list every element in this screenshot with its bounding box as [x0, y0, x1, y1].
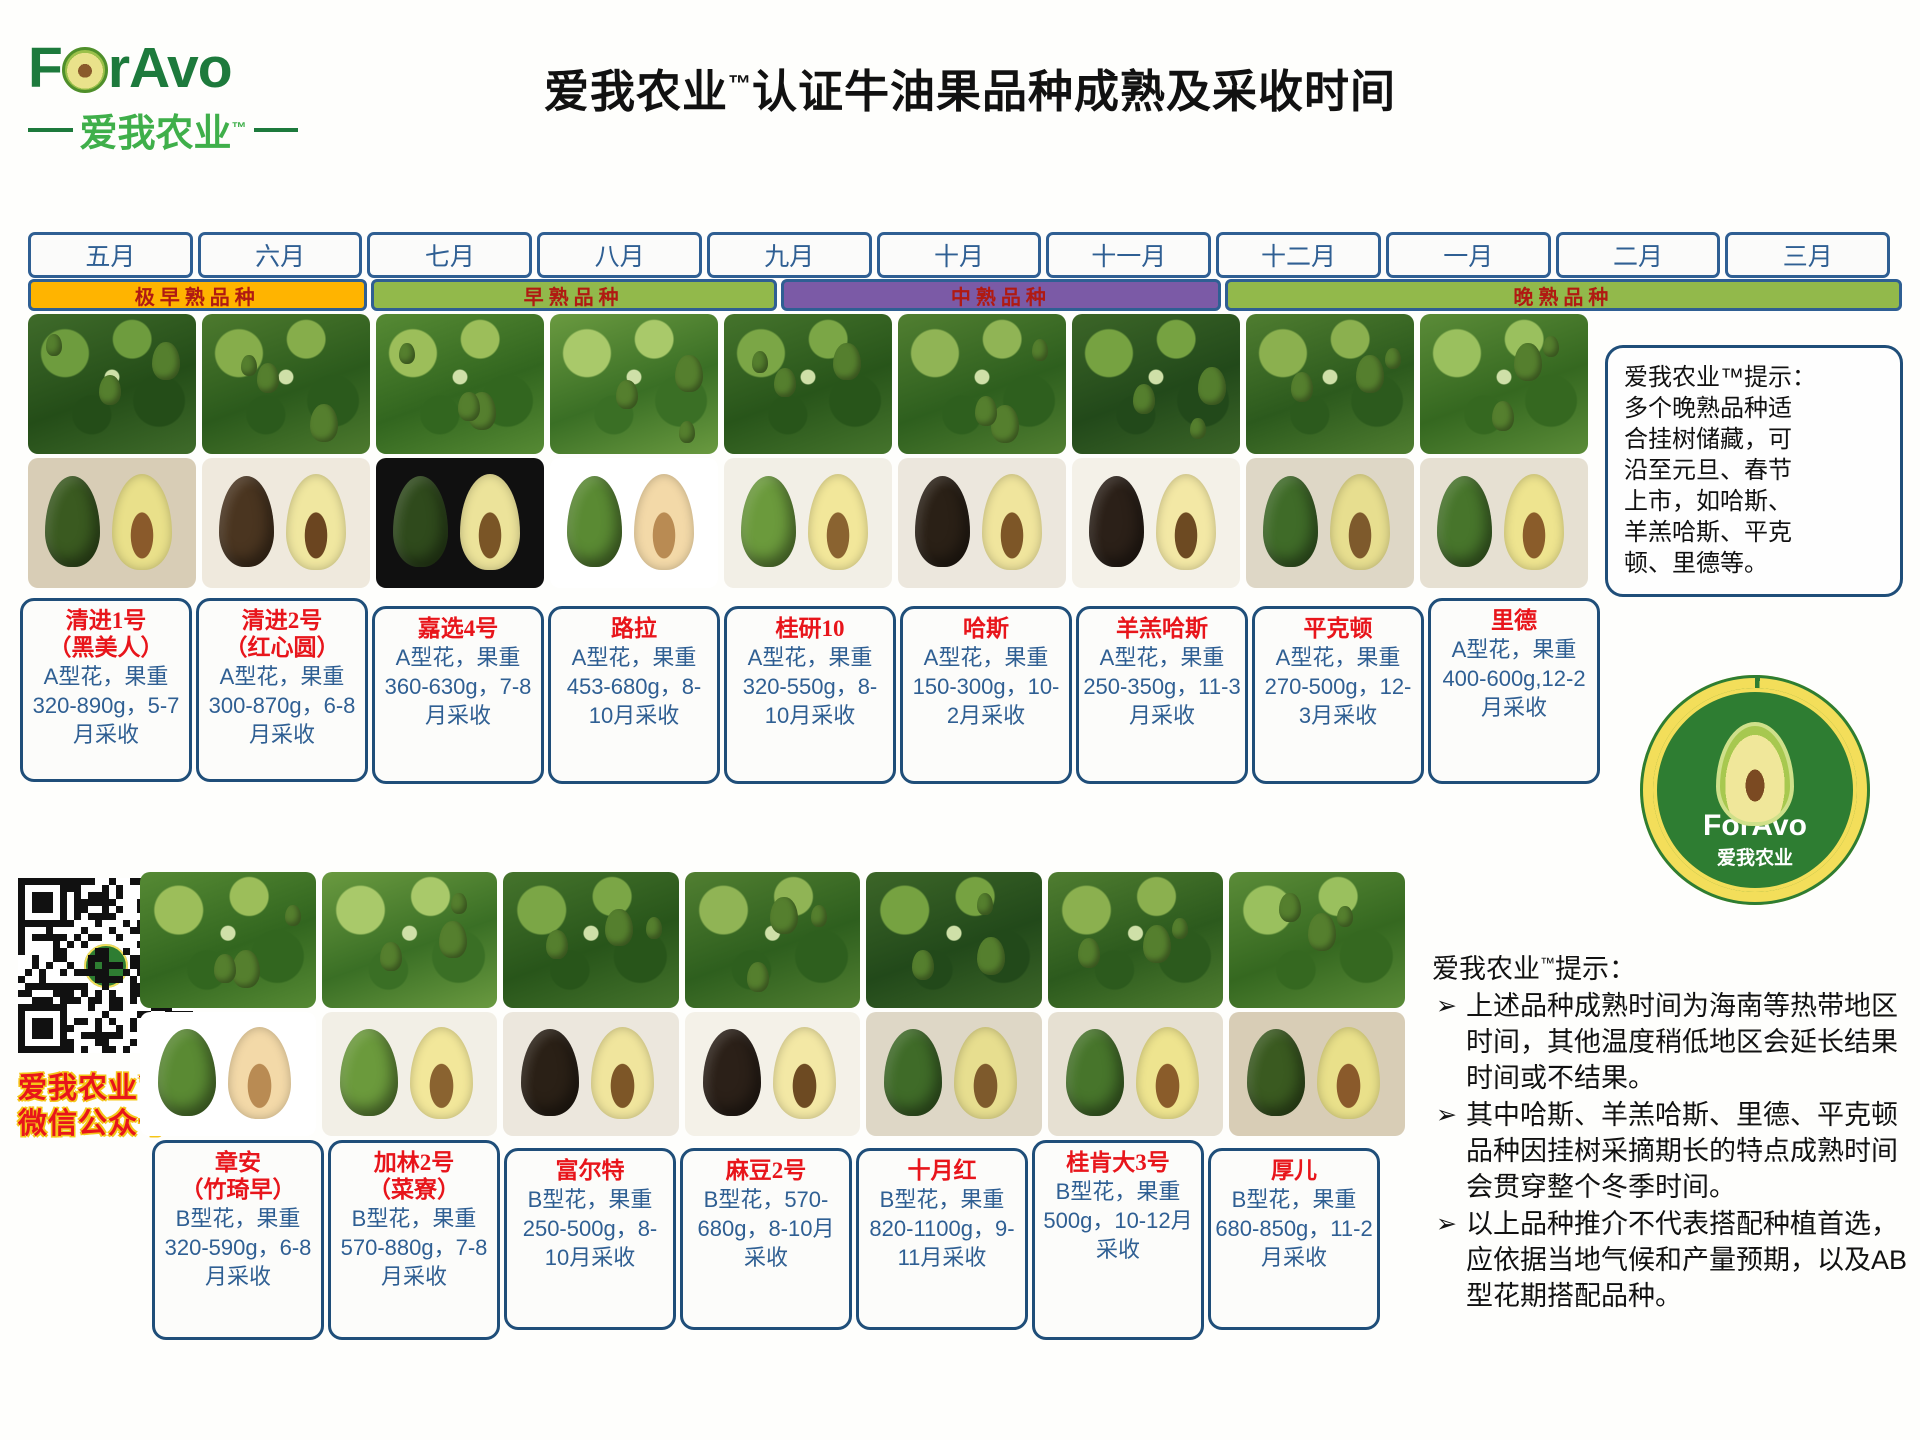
- note-item: ➢其中哈斯、羊羔哈斯、里德、平克顿品种因挂树采摘期长的特点成熟时间会贯穿整个冬季…: [1432, 1097, 1910, 1205]
- month-cell: 十月: [877, 232, 1042, 278]
- avocado-o-icon: [62, 47, 108, 93]
- variety-description: A型花，果重360-630g，7-8月采收: [379, 643, 537, 730]
- avocado-fruit-icon: [1514, 343, 1542, 381]
- note-text: 以上品种推介不代表搭配种植首选，应依据当地气候和产量预期，以及AB型花期搭配品种…: [1466, 1209, 1907, 1311]
- bullet-arrow-icon: ➢: [1436, 1206, 1457, 1242]
- variety-card: 桂肯大3号B型花，果重500g，10-12月采收: [1032, 1140, 1204, 1340]
- tree-photo: [898, 314, 1066, 454]
- maturity-category: 中熟品种: [781, 279, 1221, 311]
- avocado-fruit-icon: [1198, 367, 1226, 405]
- halved-avocado-icon: [1156, 474, 1216, 570]
- fruit-cut-photo: [1229, 1012, 1405, 1136]
- variety-name: 清进2号: [242, 607, 323, 634]
- variety-card: 路拉A型花，果重453-680g，8-10月采收: [548, 606, 720, 784]
- tree-photo: [376, 314, 544, 454]
- tree-photo: [550, 314, 718, 454]
- tree-photo: [1229, 872, 1405, 1008]
- avocado-fruit-icon: [1492, 401, 1514, 431]
- whole-avocado-icon: [340, 1029, 398, 1116]
- tip-callout-top: 爱我农业™提示：多个晚熟品种适合挂树储藏，可沿至元旦、春节上市，如哈斯、羊羔哈斯…: [1605, 345, 1903, 597]
- month-cell: 十一月: [1046, 232, 1211, 278]
- fruit-cut-photo: [322, 1012, 498, 1136]
- fruit-cut-photo: [898, 458, 1066, 588]
- whole-avocado-icon: [521, 1029, 579, 1116]
- variety-description: B型花，570-680g，8-10月采收: [687, 1185, 845, 1272]
- whole-avocado-icon: [393, 476, 448, 567]
- tip-line: 合挂树储藏，可: [1624, 424, 1886, 455]
- month-cell: 十二月: [1216, 232, 1381, 278]
- logo-dash-right: [254, 128, 299, 132]
- avocado-fruit-icon: [1385, 348, 1401, 370]
- avocado-fruit-icon: [747, 962, 769, 992]
- avocado-fruit-icon: [99, 375, 121, 405]
- avocado-fruit-icon: [675, 355, 703, 393]
- whole-avocado-icon: [1437, 476, 1492, 567]
- variety-name: 富尔特: [556, 1157, 625, 1184]
- whole-avocado-icon: [703, 1029, 761, 1116]
- variety-name: 麻豆2号: [726, 1157, 807, 1184]
- avocado-fruit-icon: [451, 893, 467, 915]
- fruit-cut-photo: [550, 458, 718, 588]
- whole-avocado-icon: [1066, 1029, 1124, 1116]
- month-header-row: 五月六月七月八月九月十月十一月十二月一月二月三月: [28, 232, 1890, 278]
- tip-line: 沿至元旦、春节: [1624, 455, 1886, 486]
- foravo-logo: FrAvo 爱我农业™: [28, 38, 298, 158]
- tip-line: 多个晚熟品种适: [1624, 393, 1886, 424]
- whole-avocado-icon: [158, 1029, 216, 1116]
- logo-wordmark: FrAvo: [28, 38, 298, 100]
- halved-avocado-icon: [460, 474, 520, 570]
- halved-avocado-icon: [228, 1027, 291, 1119]
- variety-alias: （黑美人）: [49, 634, 164, 661]
- month-cell: 一月: [1386, 232, 1551, 278]
- variety-alias: （红心圆）: [225, 634, 340, 661]
- maturity-category: 极早熟品种: [28, 279, 367, 311]
- maturity-category: 早熟品种: [371, 279, 777, 311]
- variety-card: 桂研10A型花，果重320-550g，8-10月采收: [724, 606, 896, 784]
- variety-name: 桂肯大3号: [1066, 1149, 1170, 1176]
- avocado-fruit-icon: [310, 404, 338, 442]
- seal-chinese-text: 爱我农业: [1717, 843, 1793, 870]
- avocado-fruit-icon: [616, 380, 638, 410]
- note-item: ➢以上品种推介不代表搭配种植首选，应依据当地气候和产量预期，以及AB型花期搭配品…: [1432, 1206, 1910, 1314]
- halved-avocado-icon: [1136, 1027, 1199, 1119]
- avocado-fruit-icon: [1172, 918, 1188, 940]
- avocado-fruit-icon: [912, 950, 934, 980]
- avocado-fruit-icon: [679, 421, 695, 443]
- variety-card: 麻豆2号B型花，570-680g，8-10月采收: [680, 1148, 852, 1330]
- tip-line: 羊羔哈斯、平克: [1624, 517, 1886, 548]
- variety-card: 嘉选4号A型花，果重360-630g，7-8月采收: [372, 606, 544, 784]
- halved-avocado-icon: [634, 474, 694, 570]
- variety-description: B型花，果重320-590g，6-8月采收: [159, 1204, 317, 1291]
- avocado-fruit-icon: [1291, 372, 1313, 402]
- halved-avocado-icon: [410, 1027, 473, 1119]
- fruit-cut-photo: [1420, 458, 1588, 588]
- avocado-fruit-icon: [975, 396, 997, 426]
- variety-name: 里德: [1491, 607, 1537, 634]
- maturity-category: 晚熟品种: [1225, 279, 1902, 311]
- avocado-fruit-icon: [232, 950, 260, 988]
- note-item: ➢上述品种成熟时间为海南等热带地区时间，其他温度稍低地区会延长结果时间或不结果。: [1432, 988, 1910, 1096]
- avocado-fruit-icon: [833, 343, 861, 381]
- whole-avocado-icon: [1263, 476, 1318, 567]
- avocado-fruit-icon: [439, 921, 467, 959]
- bottom-notes: 爱我农业™提示： ➢上述品种成熟时间为海南等热带地区时间，其他温度稍低地区会延长…: [1432, 946, 1910, 1314]
- variety-description: A型花，果重250-350g，11-3月采收: [1083, 643, 1241, 730]
- avocado-fruit-icon: [214, 954, 236, 984]
- tree-photo: [685, 872, 861, 1008]
- fruit-cut-photo: [1072, 458, 1240, 588]
- avocado-fruit-icon: [977, 893, 993, 915]
- avocado-fruit-icon: [152, 342, 180, 380]
- avocado-fruit-icon: [770, 897, 798, 935]
- avocado-half-icon: [1716, 722, 1794, 826]
- variety-card: 清进1号（黑美人）A型花，果重320-890g，5-7月采收: [20, 598, 192, 782]
- foravo-seal-badge: ForAvo 爱我农业: [1640, 675, 1870, 905]
- variety-description: B型花，果重250-500g，8-10月采收: [511, 1185, 669, 1272]
- variety-name: 加林2号: [374, 1149, 455, 1176]
- whole-avocado-icon: [915, 476, 970, 567]
- variety-description: B型花，果重820-1100g，9-11月采收: [863, 1185, 1021, 1272]
- variety-name: 桂研10: [776, 615, 845, 642]
- avocado-fruit-icon: [546, 930, 568, 960]
- whole-avocado-icon: [741, 476, 796, 567]
- variety-alias: （竹琦早）: [181, 1176, 296, 1203]
- fruit-cut-photo: [202, 458, 370, 588]
- avocado-fruit-icon: [1143, 925, 1171, 963]
- avocado-fruit-icon: [1308, 913, 1336, 951]
- tree-photo: [724, 314, 892, 454]
- whole-avocado-icon: [1089, 476, 1144, 567]
- variety-description: A型花，果重300-870g，6-8月采收: [203, 662, 361, 749]
- notes-list: ➢上述品种成熟时间为海南等热带地区时间，其他温度稍低地区会延长结果时间或不结果。…: [1432, 988, 1910, 1314]
- variety-name: 路拉: [611, 615, 657, 642]
- month-cell: 七月: [367, 232, 532, 278]
- halved-avocado-icon: [1504, 474, 1564, 570]
- fruit-cut-photo: [866, 1012, 1042, 1136]
- fruit-cut-photo: [1048, 1012, 1224, 1136]
- variety-name: 厚儿: [1271, 1157, 1317, 1184]
- halved-avocado-icon: [808, 474, 868, 570]
- variety-description: A型花，果重320-890g，5-7月采收: [27, 662, 185, 749]
- variety-name: 章安: [215, 1149, 261, 1176]
- tree-photo: [140, 872, 316, 1008]
- tree-photo: [1048, 872, 1224, 1008]
- page-title: 爱我农业™认证牛油果品种成熟及采收时间: [380, 55, 1560, 120]
- logo-chinese-row: 爱我农业™: [28, 102, 298, 157]
- fruit-cut-photo: [1246, 458, 1414, 588]
- bullet-arrow-icon: ➢: [1436, 1097, 1457, 1133]
- variety-card: 清进2号（红心圆）A型花，果重300-870g，6-8月采收: [196, 598, 368, 782]
- tree-photo: [503, 872, 679, 1008]
- whole-avocado-icon: [45, 476, 100, 567]
- month-cell: 二月: [1556, 232, 1721, 278]
- maturity-category-bar: 极早熟品种早熟品种中熟品种晚熟品种: [28, 279, 1890, 311]
- variety-name: 清进1号: [66, 607, 147, 634]
- avocado-fruit-icon: [399, 343, 415, 365]
- avocado-fruit-icon: [241, 355, 257, 377]
- fruit-cut-photo: [685, 1012, 861, 1136]
- avocado-fruit-icon: [458, 392, 480, 422]
- avocado-fruit-icon: [1032, 339, 1048, 361]
- bullet-arrow-icon: ➢: [1436, 988, 1457, 1024]
- whole-avocado-icon: [219, 476, 274, 567]
- avocado-fruit-icon: [811, 905, 827, 927]
- variety-description: A型花，果重320-550g，8-10月采收: [731, 643, 889, 730]
- logo-chinese-text: 爱我农业™: [80, 102, 247, 157]
- month-cell: 九月: [707, 232, 872, 278]
- variety-description: A型花，果重453-680g，8-10月采收: [555, 643, 713, 730]
- variety-card: 加林2号（菜寮）B型花，果重570-880g，7-8月采收: [328, 1140, 500, 1340]
- variety-description: B型花，果重500g，10-12月采收: [1039, 1177, 1197, 1264]
- avocado-fruit-icon: [1078, 938, 1100, 968]
- halved-avocado-icon: [591, 1027, 654, 1119]
- variety-name: 嘉选4号: [418, 615, 499, 642]
- infographic-page: FrAvo 爱我农业™ 爱我农业™认证牛油果品种成熟及采收时间 五月六月七月八月…: [0, 0, 1920, 1440]
- whole-avocado-icon: [884, 1029, 942, 1116]
- avocado-fruit-icon: [977, 937, 1005, 975]
- variety-card: 平克顿A型花，果重270-500g，12-3月采收: [1252, 606, 1424, 784]
- note-text: 其中哈斯、羊羔哈斯、里德、平克顿品种因挂树采摘期长的特点成熟时间会贯穿整个冬季时…: [1466, 1100, 1898, 1202]
- whole-avocado-icon: [1247, 1029, 1305, 1116]
- halved-avocado-icon: [954, 1027, 1017, 1119]
- halved-avocado-icon: [112, 474, 172, 570]
- variety-card: 十月红B型花，果重820-1100g，9-11月采收: [856, 1148, 1028, 1330]
- variety-card: 富尔特B型花，果重250-500g，8-10月采收: [504, 1148, 676, 1330]
- halved-avocado-icon: [773, 1027, 836, 1119]
- variety-name: 羊羔哈斯: [1116, 615, 1208, 642]
- variety-description: A型花，果重400-600g,12-2月采收: [1435, 635, 1593, 722]
- tree-photo: [28, 314, 196, 454]
- avocado-fruit-icon: [1543, 336, 1559, 358]
- halved-avocado-icon: [1330, 474, 1390, 570]
- tip-heading: 爱我农业™提示：: [1624, 362, 1886, 393]
- halved-avocado-icon: [982, 474, 1042, 570]
- halved-avocado-icon: [1317, 1027, 1380, 1119]
- variety-card: 里德A型花，果重400-600g,12-2月采收: [1428, 598, 1600, 784]
- tree-photo: [322, 872, 498, 1008]
- tip-line: 顿、里德等。: [1624, 548, 1886, 579]
- avocado-fruit-icon: [752, 351, 768, 373]
- notes-heading: 爱我农业™提示：: [1432, 946, 1910, 987]
- fruit-cut-photo: [503, 1012, 679, 1136]
- fruit-cut-photo: [724, 458, 892, 588]
- avocado-fruit-icon: [257, 363, 279, 393]
- tree-photo: [1420, 314, 1588, 454]
- avocado-fruit-icon: [646, 917, 662, 939]
- variety-description: A型花，果重150-300g，10-2月采收: [907, 643, 1065, 730]
- fruit-cut-photo: [140, 1012, 316, 1136]
- variety-description: B型花，果重570-880g，7-8月采收: [335, 1204, 493, 1291]
- avocado-fruit-icon: [285, 905, 301, 927]
- seal-inner: ForAvo 爱我农业: [1653, 688, 1857, 892]
- tree-photo: [1246, 314, 1414, 454]
- month-cell: 三月: [1725, 232, 1890, 278]
- month-cell: 五月: [28, 232, 193, 278]
- variety-card: 厚儿B型花，果重680-850g，11-2月采收: [1208, 1148, 1380, 1330]
- avocado-fruit-icon: [774, 368, 796, 398]
- month-cell: 八月: [537, 232, 702, 278]
- variety-description: A型花，果重270-500g，12-3月采收: [1259, 643, 1417, 730]
- variety-card: 章安（竹琦早）B型花，果重320-590g，6-8月采收: [152, 1140, 324, 1340]
- whole-avocado-icon: [567, 476, 622, 567]
- avocado-fruit-icon: [1190, 418, 1206, 440]
- avocado-fruit-icon: [380, 942, 402, 972]
- variety-card: 哈斯A型花，果重150-300g，10-2月采收: [900, 606, 1072, 784]
- avocado-fruit-icon: [1356, 355, 1384, 393]
- month-cell: 六月: [198, 232, 363, 278]
- variety-alias: （菜寮）: [368, 1176, 460, 1203]
- logo-dash-left: [28, 128, 73, 132]
- avocado-fruit-icon: [605, 909, 633, 947]
- fruit-cut-photo: [376, 458, 544, 588]
- halved-avocado-icon: [286, 474, 346, 570]
- tree-photo: [1072, 314, 1240, 454]
- tree-photo: [202, 314, 370, 454]
- avocado-fruit-icon: [1133, 384, 1155, 414]
- variety-card: 羊羔哈斯A型花，果重250-350g，11-3月采收: [1076, 606, 1248, 784]
- tree-photo: [866, 872, 1042, 1008]
- variety-name: 平克顿: [1304, 615, 1373, 642]
- variety-name: 十月红: [908, 1157, 977, 1184]
- fruit-cut-photo: [28, 458, 196, 588]
- note-text: 上述品种成熟时间为海南等热带地区时间，其他温度稍低地区会延长结果时间或不结果。: [1466, 991, 1898, 1093]
- avocado-fruit-icon: [1337, 906, 1353, 928]
- variety-description: B型花，果重680-850g，11-2月采收: [1215, 1185, 1373, 1272]
- tip-line: 上市，如哈斯、: [1624, 486, 1886, 517]
- avocado-fruit-icon: [46, 334, 62, 356]
- avocado-fruit-icon: [1279, 893, 1301, 923]
- variety-name: 哈斯: [963, 615, 1009, 642]
